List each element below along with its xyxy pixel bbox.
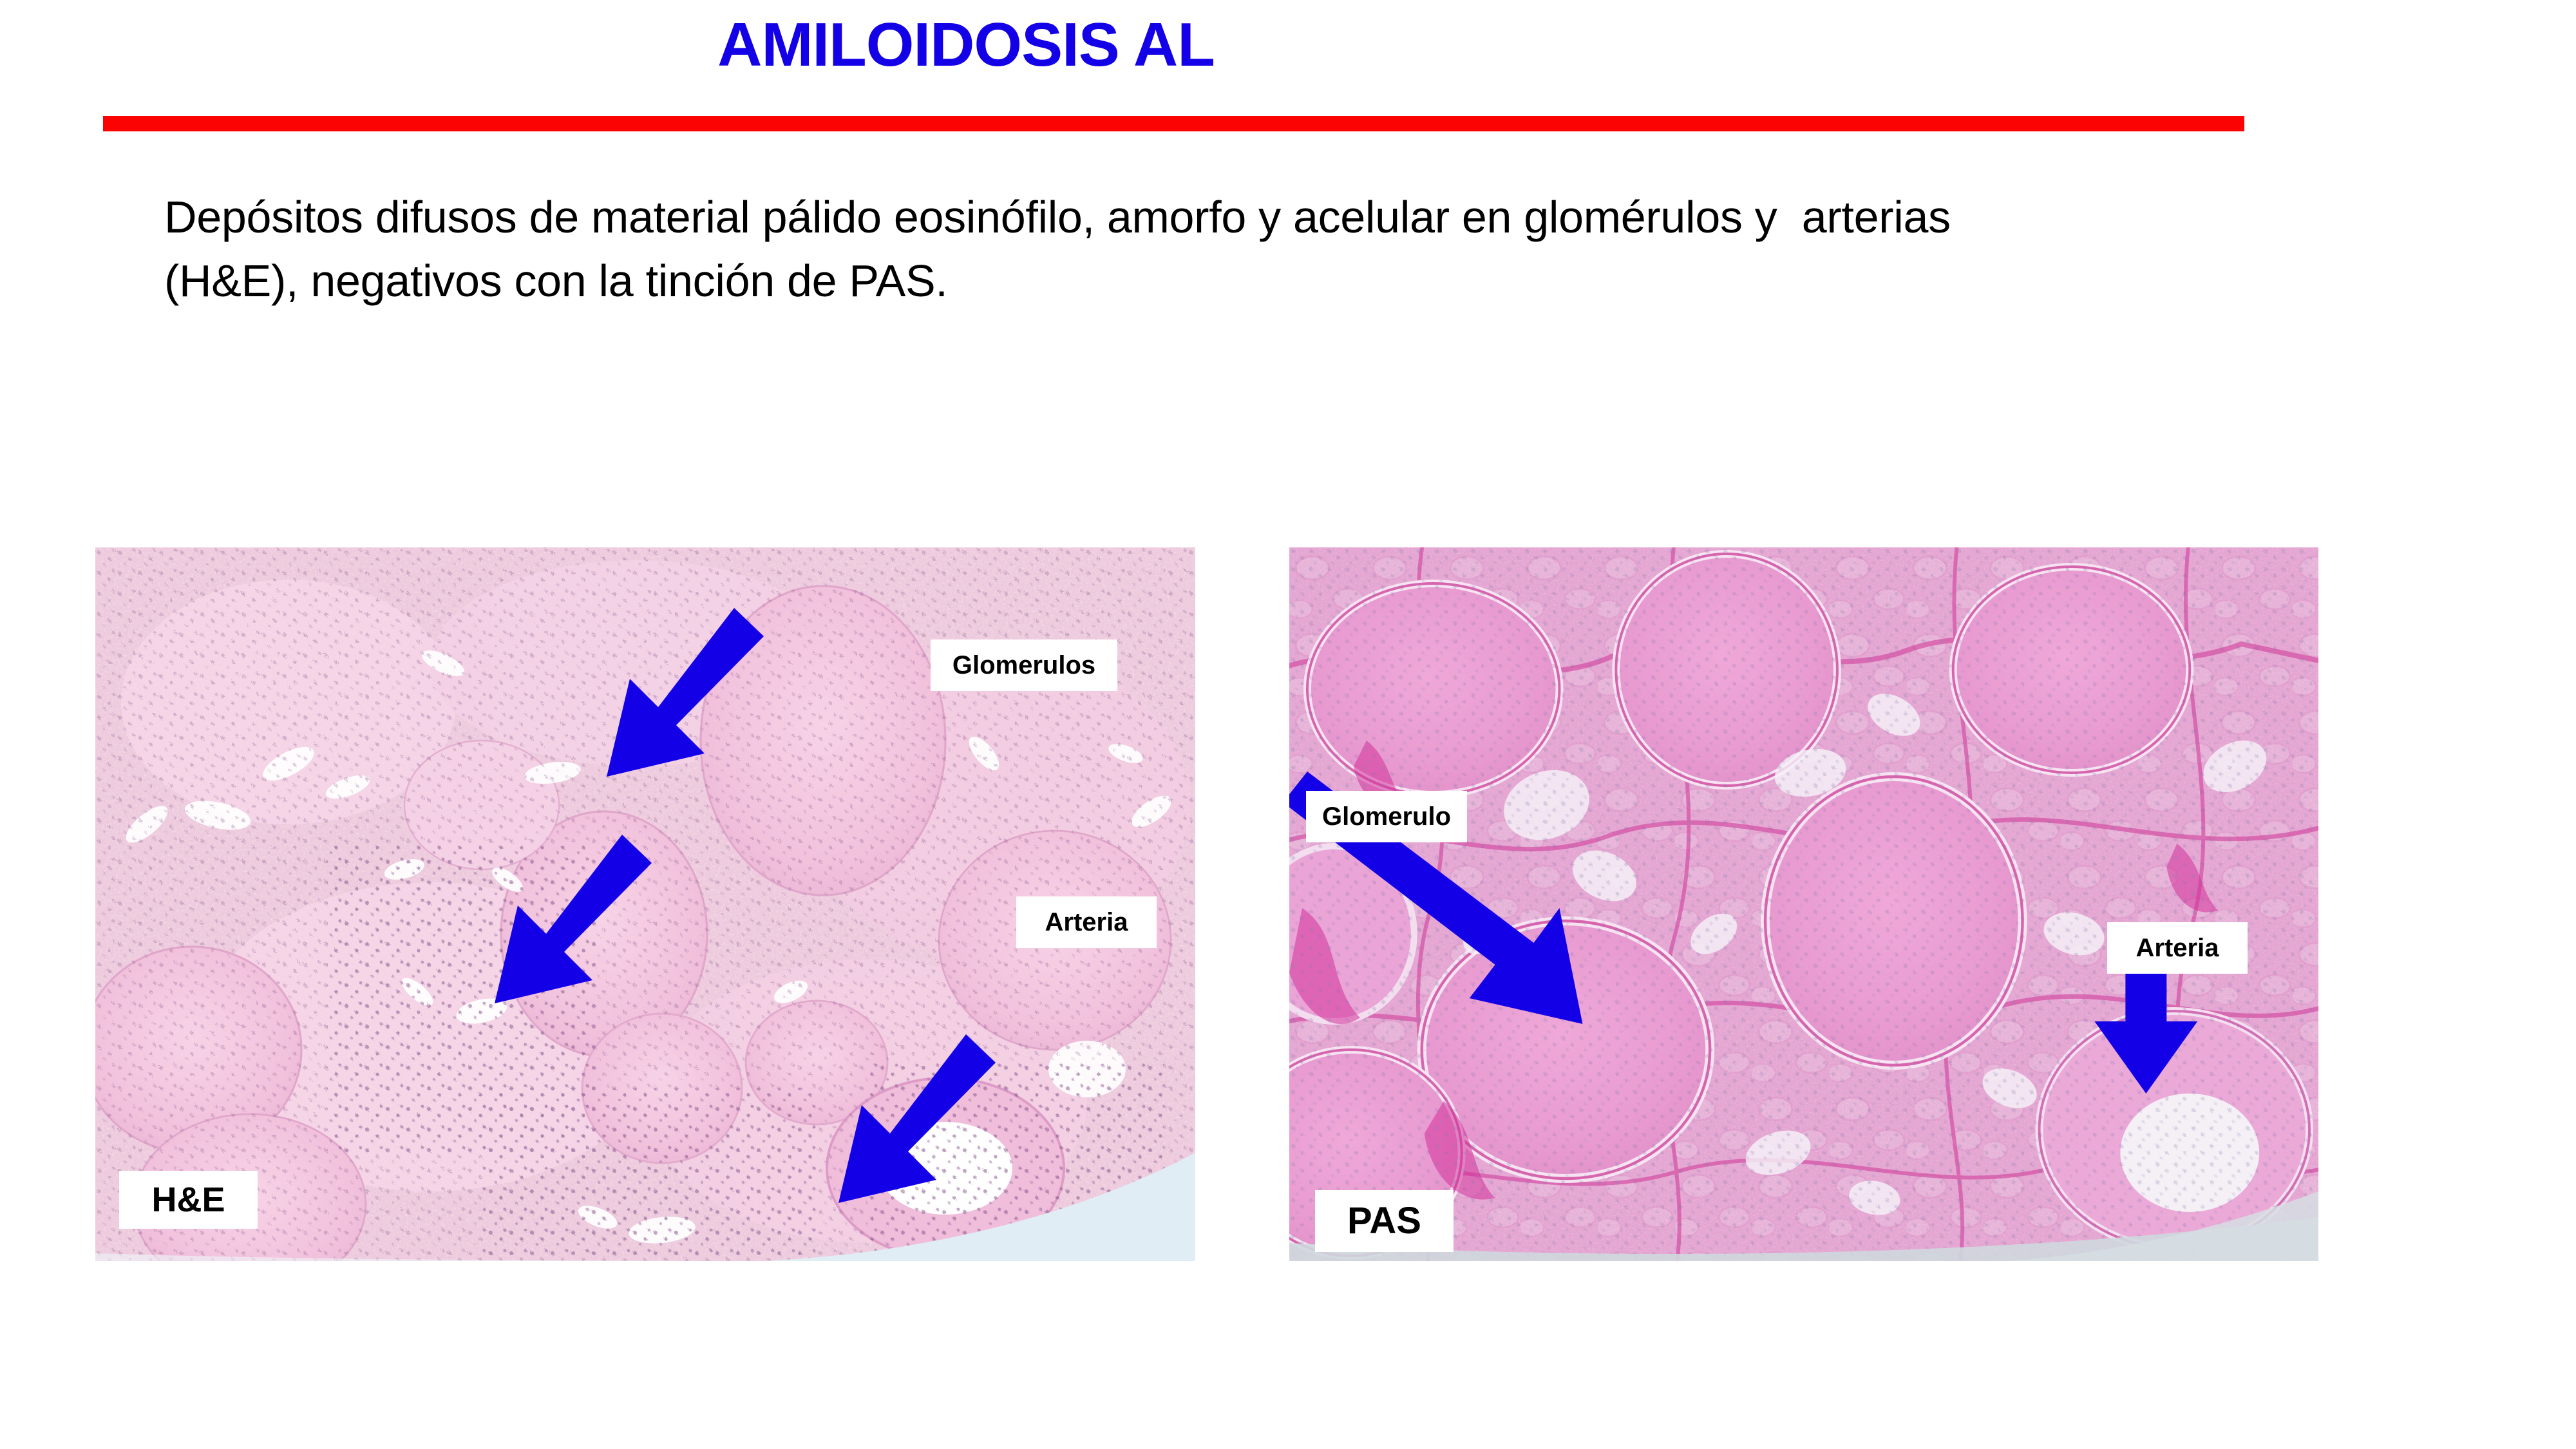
- callout-glomerulo-pas: Glomerulo: [1306, 791, 1467, 842]
- pas-histology-render: [1289, 547, 2318, 1261]
- title-divider-rule: [103, 116, 2244, 131]
- page-title: AMILOIDOSIS AL: [0, 13, 1932, 78]
- stain-label-he: H&E: [119, 1171, 258, 1229]
- callout-arteria-pas: Arteria: [2107, 922, 2248, 974]
- micrograph-pas[interactable]: [1289, 547, 2318, 1261]
- stain-label-pas: PAS: [1315, 1190, 1454, 1252]
- slide-canvas: AMILOIDOSIS AL Depósitos difusos de mate…: [0, 0, 2576, 1449]
- body-paragraph: Depósitos difusos de material pálido eos…: [164, 185, 2096, 314]
- callout-glomerulos-he: Glomerulos: [931, 639, 1117, 691]
- callout-arteria-he: Arteria: [1016, 896, 1157, 948]
